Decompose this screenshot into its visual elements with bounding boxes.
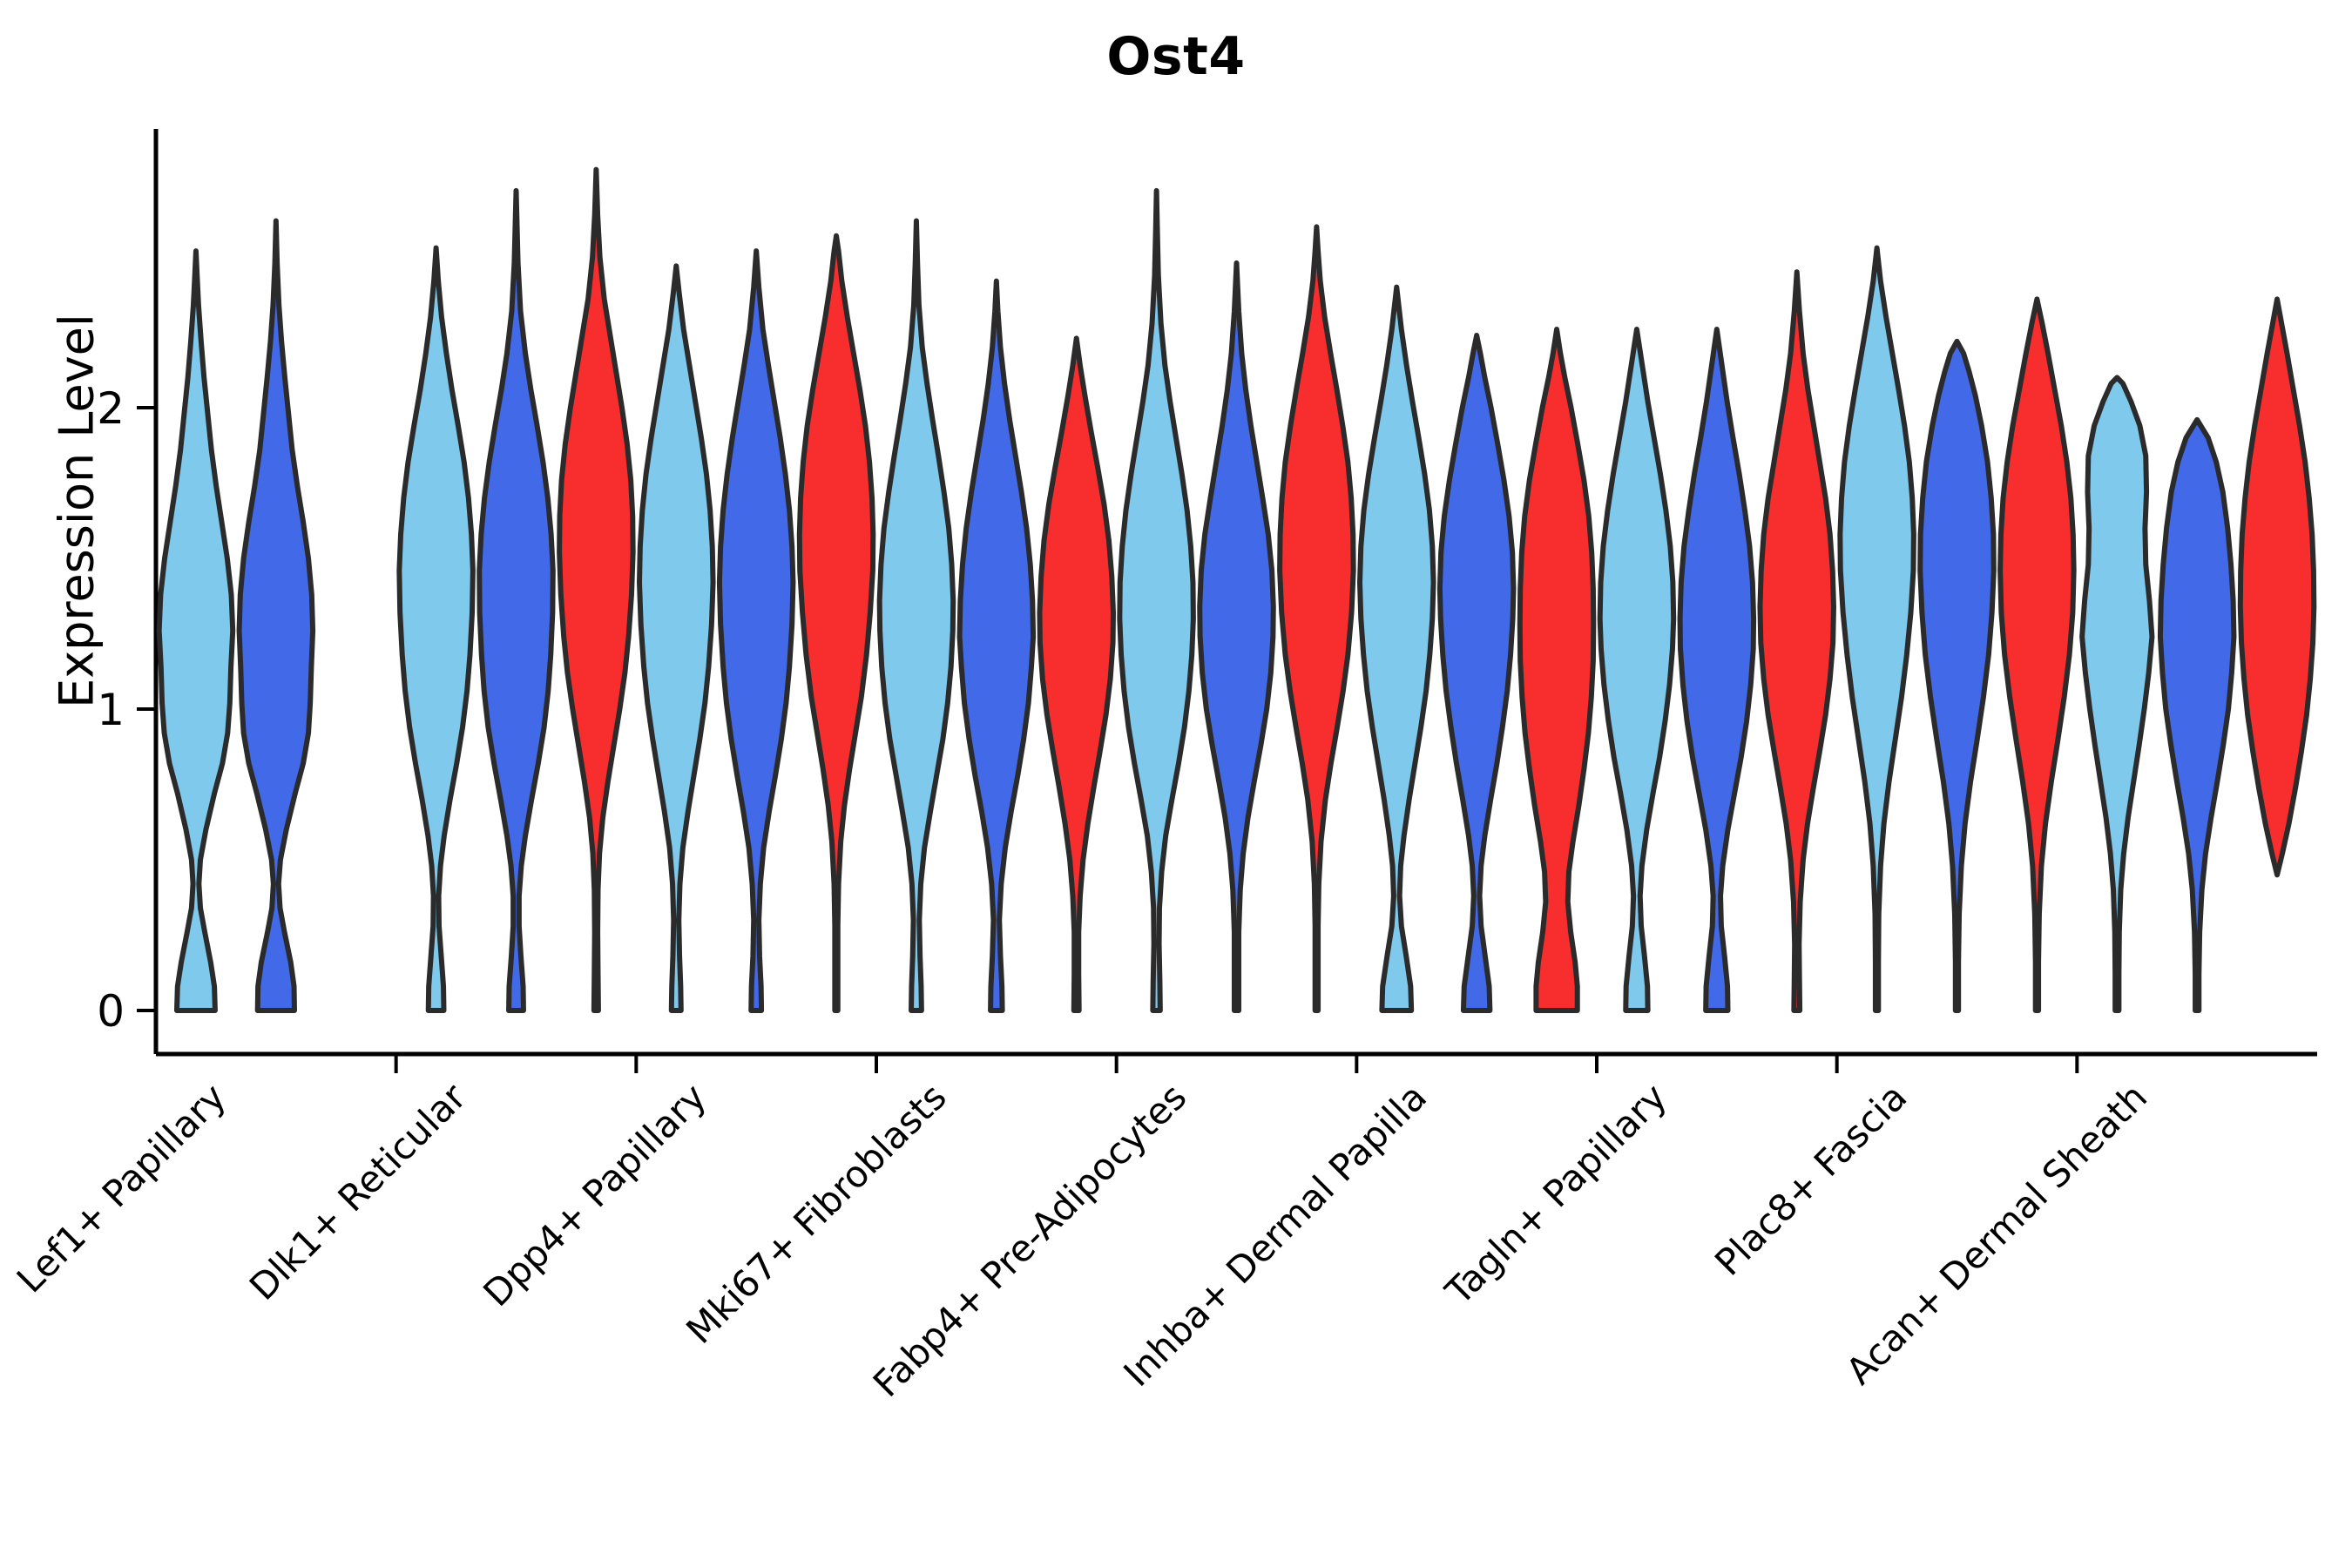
violin-shape[interactable] (2240, 299, 2315, 875)
x-tick-label: Tagln+ Papillary (1436, 1075, 1674, 1313)
violin-shape[interactable] (159, 251, 233, 1010)
x-tick-label: Dlk1+ Reticular (241, 1075, 475, 1308)
violin-shape[interactable] (1200, 263, 1274, 1010)
x-tick-labels-layer: Lef1+ PapillaryDlk1+ ReticularDpp4+ Papi… (9, 1075, 2155, 1405)
x-tick-label: Mki67+ Fibroblasts (678, 1075, 954, 1351)
violin-shape[interactable] (800, 236, 874, 1010)
violins-layer (159, 170, 2315, 1010)
violin-shape[interactable] (639, 266, 713, 1010)
violin-shape[interactable] (1680, 329, 1754, 1010)
violin-shape[interactable] (559, 170, 633, 1010)
x-tick-label: Dpp4+ Papillary (475, 1075, 714, 1315)
plot-canvas: 012 Lef1+ PapillaryDlk1+ ReticularDpp4+ … (0, 0, 2352, 1568)
violin-shape[interactable] (2160, 420, 2234, 1010)
y-tick-label: 0 (97, 986, 125, 1037)
violin-shape[interactable] (1600, 329, 1674, 1010)
violin-shape[interactable] (1920, 341, 1994, 1010)
violin-shape[interactable] (960, 281, 1034, 1010)
violin-shape[interactable] (720, 251, 794, 1010)
violin-shape[interactable] (1039, 338, 1113, 1010)
violin-shape[interactable] (240, 220, 314, 1010)
violin-shape[interactable] (1520, 329, 1594, 1010)
violin-shape[interactable] (1760, 272, 1834, 1010)
violin-shape[interactable] (1440, 335, 1514, 1010)
violin-shape[interactable] (1280, 226, 1354, 1010)
violin-shape[interactable] (479, 191, 553, 1010)
y-tick-label: 1 (97, 685, 125, 735)
x-tick-label: Plac8+ Fascia (1707, 1075, 1915, 1283)
violin-shape[interactable] (880, 220, 954, 1010)
violin-shape[interactable] (2082, 377, 2152, 1010)
violin-shape[interactable] (1119, 191, 1193, 1010)
violin-shape[interactable] (1360, 287, 1434, 1010)
violin-shape[interactable] (2000, 299, 2074, 1010)
violin-plot-figure: Ost4 Expression Level 012 Lef1+ Papillar… (0, 0, 2352, 1568)
violin-shape[interactable] (1840, 248, 1914, 1010)
violin-shape[interactable] (399, 248, 473, 1010)
x-tick-label: Lef1+ Papillary (9, 1075, 234, 1301)
y-tick-label: 2 (97, 383, 125, 434)
